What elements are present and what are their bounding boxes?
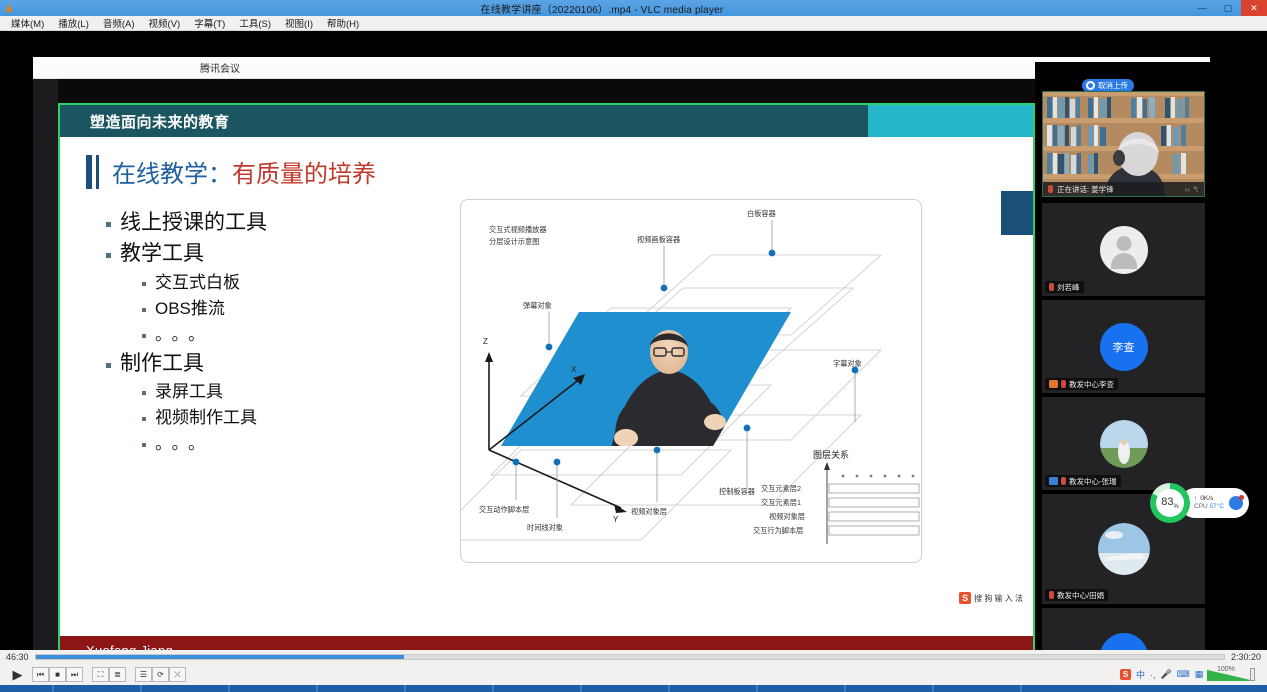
host-badge-icon [1049, 380, 1058, 388]
sogou-logo-icon: S [959, 592, 971, 604]
bullet-text: 制作工具 [120, 350, 204, 378]
screen-root: 在线教学讲座（20220106）.mp4 - VLC media player … [0, 0, 1267, 692]
menu-item-video[interactable]: 视频(V) [142, 16, 188, 30]
legend-title: 图层关系 [813, 449, 849, 460]
fullscreen-button[interactable]: ⛶ [92, 667, 109, 682]
menu-item-subtitle[interactable]: 字幕(T) [187, 16, 232, 30]
menu-item-audio[interactable]: 音频(A) [96, 16, 142, 30]
vlc-close-button[interactable]: ✕ [1241, 0, 1267, 16]
play-button[interactable]: ▶ [6, 665, 29, 684]
vlc-button-row: ▶ ⏮ ■ ⏭ ⛶ ≣ ☰ ⟳ ⤫ 🔊 100% [0, 664, 1267, 685]
upload-arrow-icon: ↑ [1194, 495, 1197, 503]
legend-row-label: 视频对象层 [769, 512, 805, 521]
menu-item-tools[interactable]: 工具(S) [232, 16, 278, 30]
diagram-label-control-panel-container: 控制板容器 [719, 487, 755, 496]
cpu-temp-value: 57°C [1210, 503, 1225, 510]
meeting-window: 腾讯会议 — ❐ ✕ 录制中 [33, 57, 1210, 687]
menu-item-help[interactable]: 帮助(H) [320, 16, 366, 30]
taskbar-item[interactable] [932, 685, 934, 692]
shared-screen-frame: 录制中 塑造面向未来的教育 在线教学：有质量的培养 [58, 103, 1035, 666]
bullet-text: 。。。 [155, 324, 213, 347]
diagram-label-video-canvas-container: 视频画板容器 [637, 235, 680, 244]
shuffle-button[interactable]: ⤫ [169, 667, 186, 682]
sogou-logo-icon[interactable]: S [1120, 669, 1131, 680]
axis-label-z: Z [483, 337, 488, 346]
participant-tile[interactable]: 刘若峰 [1042, 203, 1205, 296]
volume-knob[interactable] [1250, 668, 1255, 681]
taskbar-item[interactable] [140, 685, 142, 692]
taskbar-item[interactable] [580, 685, 582, 692]
bullet-square-icon [142, 417, 146, 421]
language-chinese-icon[interactable]: 中 [1136, 668, 1145, 681]
slide-right-block [1001, 191, 1033, 235]
performance-widget-body: ↑ 0K/s CPU 57°C [1180, 488, 1249, 518]
panel-icon[interactable]: ▦ [1195, 669, 1204, 680]
diagram-label-whiteboard-container: 白板容器 [747, 209, 776, 218]
legend-row-label: 交互元素层2 [761, 484, 801, 493]
diagram-label-interaction-script-layer: 交互动作脚本层 [479, 505, 529, 514]
taskbar-item[interactable] [844, 685, 846, 692]
bullet-item: 。。。 [142, 324, 446, 347]
bullet-text: 线上授课的工具 [120, 209, 267, 237]
slide-body: 在线教学：有质量的培养 线上授课的工具 教学工具 [60, 137, 1033, 636]
elapsed-time: 46:30 [6, 652, 29, 662]
bullet-square-icon [142, 443, 146, 447]
stop-button[interactable]: ■ [49, 667, 66, 682]
speaking-status-row: 正在讲话: 姜学锋 ‹‹ ↰ [1043, 182, 1204, 196]
cloud-upload-icon [1086, 81, 1095, 90]
participant-name-chip: 教发中心/田娟 [1045, 589, 1108, 601]
taskbar-item[interactable] [756, 685, 758, 692]
slide-header-accent [868, 105, 1033, 137]
participant-name: 教发中心/田娟 [1057, 590, 1104, 601]
diagram-legend: 图层关系 [753, 449, 919, 544]
diagram-label-subtitle-object: 字幕对象 [833, 359, 862, 368]
participant-tile[interactable]: 教发中心-张瑞 [1042, 397, 1205, 490]
speaking-status-label: 正在讲话: 姜学锋 [1057, 184, 1114, 195]
taskbar-item[interactable] [316, 685, 318, 692]
taskbar-item[interactable] [1020, 685, 1022, 692]
microphone-icon [1049, 591, 1054, 599]
bullet-square-icon [142, 308, 146, 312]
symbol-input-icon[interactable]: ·, [1150, 670, 1156, 680]
taskbar-item[interactable] [228, 685, 230, 692]
microphone-icon [1061, 477, 1066, 485]
meeting-window-title: 腾讯会议 [200, 60, 240, 75]
bullet-text: 视频制作工具 [155, 407, 257, 430]
vlc-menubar: 媒体(M) 播放(L) 音频(A) 视频(V) 字幕(T) 工具(S) 视图(I… [0, 16, 1267, 31]
diagram-title-line1: 交互式视频播放器 [489, 225, 547, 234]
vlc-seek-row: 46:30 2:30:20 [0, 650, 1267, 664]
taskbar-item[interactable] [52, 685, 54, 692]
ime-watermark: S 搜 狗 输 入 法 [959, 592, 1023, 604]
bullet-square-icon [106, 363, 111, 368]
chevron-left-icon[interactable]: ‹‹ ↰ [1185, 185, 1199, 194]
bullet-item: 教学工具 [106, 240, 446, 268]
playlist-group: ☰ ⟳ ⤫ [135, 667, 186, 682]
seek-slider[interactable] [35, 654, 1225, 660]
menu-item-playback[interactable]: 播放(L) [51, 16, 96, 30]
performance-widget[interactable]: 83% ↑ 0K/s CPU 57°C [1150, 483, 1249, 523]
participant-name: 教发中心-张瑞 [1069, 476, 1117, 487]
windows-taskbar[interactable] [0, 685, 1267, 692]
axis-label-x: X [571, 365, 577, 374]
bullet-text: 。。。 [155, 433, 213, 456]
seek-progress [36, 655, 404, 659]
previous-button[interactable]: ⏮ [32, 667, 49, 682]
network-speed-row: ↑ 0K/s [1194, 495, 1224, 503]
bullet-text: 交互式白板 [155, 272, 240, 295]
vlc-control-bar: 46:30 2:30:20 ▶ ⏮ ■ ⏭ ⛶ ≣ ☰ ⟳ ⤫ [0, 650, 1267, 685]
volume-value: 100% [1217, 666, 1235, 673]
bullet-square-icon [142, 282, 146, 286]
diagram-svg: Z X Y 交互式视频播放器 分层设计示意图 [461, 200, 922, 563]
participant-name-chip: 教发中心-张瑞 [1045, 475, 1121, 487]
ime-toolbar[interactable]: S 中 ·, 🎤 ⌨ ▦ [1116, 667, 1207, 682]
vlc-titlebar: 在线教学讲座（20220106）.mp4 - VLC media player … [0, 0, 1267, 16]
bullet-item: 视频制作工具 [142, 407, 446, 430]
slide-header-title: 塑造面向未来的教育 [90, 111, 230, 132]
bullet-item: 制作工具 [106, 350, 446, 378]
bullet-item: OBS推流 [142, 298, 446, 321]
microphone-icon[interactable]: 🎤 [1161, 669, 1172, 680]
shared-screen-area: 录制中 塑造面向未来的教育 在线教学：有质量的培养 [58, 79, 1035, 687]
diagram-label-danmaku-object: 弹幕对象 [523, 301, 552, 310]
microphone-icon [1061, 380, 1066, 388]
microphone-icon [1049, 283, 1054, 291]
upload-status-label: 取消上传 [1098, 80, 1128, 91]
keyboard-icon[interactable]: ⌨ [1177, 669, 1190, 680]
presentation-slide: 录制中 塑造面向未来的教育 在线教学：有质量的培养 [60, 105, 1033, 664]
security-shield-icon[interactable] [1229, 496, 1243, 510]
participant-name-chip: 刘若峰 [1045, 281, 1084, 293]
participant-rail: 取消上传 [1035, 62, 1267, 682]
legend-row-label: 交互行为脚本层 [753, 526, 803, 535]
bullet-item: 交互式白板 [142, 272, 446, 295]
meeting-titlebar: 腾讯会议 — ❐ ✕ [33, 57, 1210, 79]
vlc-window-buttons: — ▢ ✕ [1189, 0, 1267, 16]
participant-tile[interactable]: 李查 教发中心李查 [1042, 300, 1205, 393]
slide-title-accent: 有质量的培养 [232, 161, 376, 188]
playlist-button[interactable]: ☰ [135, 667, 152, 682]
vlc-video-canvas[interactable]: 腾讯会议 — ❐ ✕ 录制中 [0, 31, 1267, 650]
bullet-item: 线上授课的工具 [106, 209, 446, 237]
diagram-title-line2: 分层设计示意图 [489, 237, 539, 246]
network-speed-value: 0K/s [1200, 495, 1213, 503]
plane-interaction-script [461, 450, 731, 540]
next-button[interactable]: ⏭ [66, 667, 83, 682]
cpu-usage-value: 83% [1161, 496, 1179, 510]
diagram-label-video-object-layer: 视频对象层 [631, 507, 667, 516]
slide-title: 在线教学：有质量的培养 [112, 154, 376, 189]
slide-header: 录制中 塑造面向未来的教育 [60, 105, 1033, 137]
menu-item-view[interactable]: 视图(I) [278, 16, 320, 30]
taskbar-item[interactable] [668, 685, 670, 692]
volume-slider[interactable]: 100% [1199, 668, 1255, 681]
legend-row-label: 交互元素层1 [761, 498, 801, 507]
title-accent-bar-thin [96, 155, 99, 189]
slide-title-primary: 在线教学： [112, 161, 232, 188]
extended-settings-button[interactable]: ≣ [109, 667, 126, 682]
bullet-text: OBS推流 [155, 298, 225, 321]
avatar: 李查 [1100, 323, 1148, 371]
participant-name: 教发中心李查 [1069, 379, 1114, 390]
microphone-icon [1048, 185, 1053, 193]
axis-label-y: Y [613, 515, 619, 524]
bullet-item: 。。。 [142, 433, 446, 456]
bullet-item: 录屏工具 [142, 381, 446, 404]
participant-name: 刘若峰 [1057, 282, 1080, 293]
bullet-text: 教学工具 [120, 240, 204, 268]
participant-name-chip: 教发中心李查 [1045, 378, 1118, 390]
performance-readouts: ↑ 0K/s CPU 57°C [1194, 495, 1224, 511]
bullet-square-icon [142, 334, 146, 338]
vlc-window-title: 在线教学讲座（20220106）.mp4 - VLC media player [15, 1, 1189, 16]
total-time: 2:30:20 [1231, 652, 1261, 662]
participant-video [1043, 92, 1204, 196]
layered-diagram: Z X Y 交互式视频播放器 分层设计示意图 [460, 199, 922, 563]
diagram-label-timeline-object: 时间线对象 [527, 523, 563, 532]
slide-bullet-list: 线上授课的工具 教学工具 交互式白板 [106, 209, 446, 459]
title-accent-bar [86, 155, 92, 189]
bullet-square-icon [142, 391, 146, 395]
participant-tile-speaker[interactable]: 正在讲话: 姜学锋 ‹‹ ↰ [1042, 91, 1205, 197]
vlc-minimize-button[interactable]: — [1189, 0, 1215, 16]
cpu-label: CPU [1194, 503, 1208, 510]
cpu-temp-row: CPU 57°C [1194, 503, 1224, 511]
bullet-square-icon [106, 253, 111, 258]
view-group: ⛶ ≣ [92, 667, 126, 682]
loop-button[interactable]: ⟳ [152, 667, 169, 682]
ime-watermark-label: 搜 狗 输 入 法 [974, 593, 1023, 604]
taskbar-item[interactable] [492, 685, 494, 692]
bullet-text: 录屏工具 [155, 381, 223, 404]
vlc-maximize-button[interactable]: ▢ [1215, 0, 1241, 16]
host-badge-icon [1049, 477, 1058, 485]
transport-group: ⏮ ■ ⏭ [32, 667, 83, 682]
menu-item-media[interactable]: 媒体(M) [4, 16, 51, 30]
cpu-usage-ring: 83% [1150, 483, 1190, 523]
avatar [1100, 226, 1148, 274]
vlc-cone-icon [3, 2, 15, 14]
bullet-square-icon [106, 222, 111, 227]
taskbar-item[interactable] [404, 685, 406, 692]
